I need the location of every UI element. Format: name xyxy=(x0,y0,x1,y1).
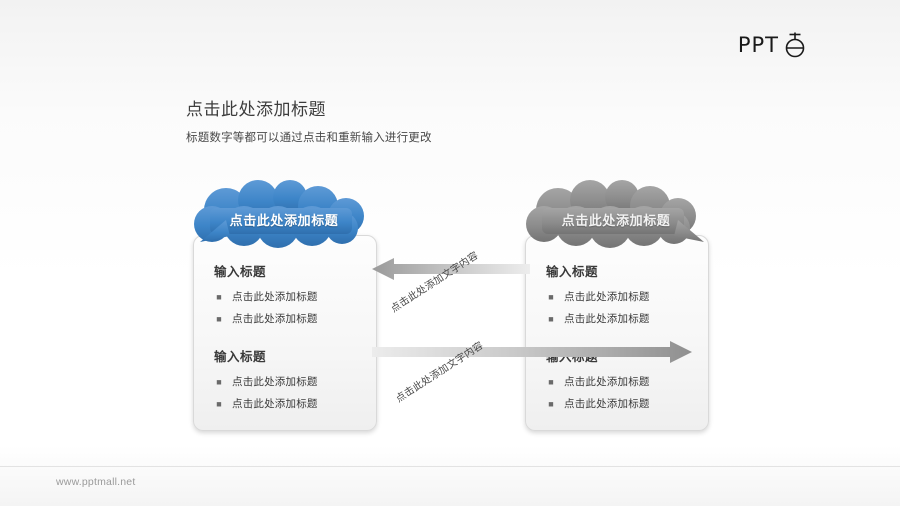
page-title: 点击此处添加标题 xyxy=(186,95,326,120)
panel-left[interactable]: 输入标题 ■ 点击此处添加标题 ■ 点击此处添加标题 输入标题 ■ 点击此处添加… xyxy=(193,235,377,431)
list-item-label: 点击此处添加标题 xyxy=(232,290,318,304)
footer-url: www.pptmall.net xyxy=(56,476,135,488)
list-item: ■ 点击此处添加标题 xyxy=(546,290,650,304)
group-heading: 输入标题 xyxy=(214,261,318,280)
bullet-icon: ■ xyxy=(214,375,224,389)
slide-canvas: PPT 点击此处添加标题 标题数字等都可以通过点击和重新输入进行更改 输入标题 … xyxy=(0,0,900,506)
cloud-left[interactable]: 点击此处添加标题 xyxy=(186,180,382,252)
circle-arrow-logo-icon xyxy=(780,30,810,60)
panel-right[interactable]: 输入标题 ■ 点击此处添加标题 ■ 点击此处添加标题 输入标题 ■ 点击此处添加… xyxy=(525,235,709,431)
logo-text: PPT xyxy=(738,33,779,57)
list-item: ■ 点击此处添加标题 xyxy=(214,397,318,411)
list-item-label: 点击此处添加标题 xyxy=(564,375,650,389)
page-subtitle: 标题数字等都可以通过点击和重新输入进行更改 xyxy=(186,129,432,145)
list-item: ■ 点击此处添加标题 xyxy=(546,397,650,411)
bullet-icon: ■ xyxy=(546,312,556,326)
list-item: ■ 点击此处添加标题 xyxy=(214,312,318,326)
panel-left-content: 输入标题 ■ 点击此处添加标题 ■ 点击此处添加标题 输入标题 ■ 点击此处添加… xyxy=(194,236,376,430)
cloud-left-label: 点击此处添加标题 xyxy=(186,210,382,229)
bullet-icon: ■ xyxy=(546,397,556,411)
list-item-label: 点击此处添加标题 xyxy=(564,290,650,304)
arrow-left-to-right xyxy=(372,341,692,363)
list-item: ■ 点击此处添加标题 xyxy=(214,375,318,389)
group-heading: 输入标题 xyxy=(214,346,318,365)
panel-right-group-1: 输入标题 ■ 点击此处添加标题 ■ 点击此处添加标题 xyxy=(546,261,650,334)
group-heading: 输入标题 xyxy=(546,261,650,280)
list-item-label: 点击此处添加标题 xyxy=(232,312,318,326)
panel-right-content: 输入标题 ■ 点击此处添加标题 ■ 点击此处添加标题 输入标题 ■ 点击此处添加… xyxy=(526,236,708,430)
panel-left-group-1: 输入标题 ■ 点击此处添加标题 ■ 点击此处添加标题 xyxy=(214,261,318,334)
footer-divider xyxy=(0,466,900,467)
cloud-right[interactable]: 点击此处添加标题 xyxy=(518,180,714,252)
bullet-icon: ■ xyxy=(546,375,556,389)
bullet-icon: ■ xyxy=(214,290,224,304)
cloud-right-label: 点击此处添加标题 xyxy=(518,210,714,229)
list-item-label: 点击此处添加标题 xyxy=(564,397,650,411)
list-item-label: 点击此处添加标题 xyxy=(232,375,318,389)
list-item: ■ 点击此处添加标题 xyxy=(214,290,318,304)
list-item-label: 点击此处添加标题 xyxy=(564,312,650,326)
bullet-icon: ■ xyxy=(546,290,556,304)
list-item: ■ 点击此处添加标题 xyxy=(546,375,650,389)
panel-left-group-2: 输入标题 ■ 点击此处添加标题 ■ 点击此处添加标题 xyxy=(214,346,318,419)
list-item: ■ 点击此处添加标题 xyxy=(546,312,650,326)
bullet-icon: ■ xyxy=(214,397,224,411)
list-item-label: 点击此处添加标题 xyxy=(232,397,318,411)
bullet-icon: ■ xyxy=(214,312,224,326)
brand-logo: PPT xyxy=(738,30,810,60)
